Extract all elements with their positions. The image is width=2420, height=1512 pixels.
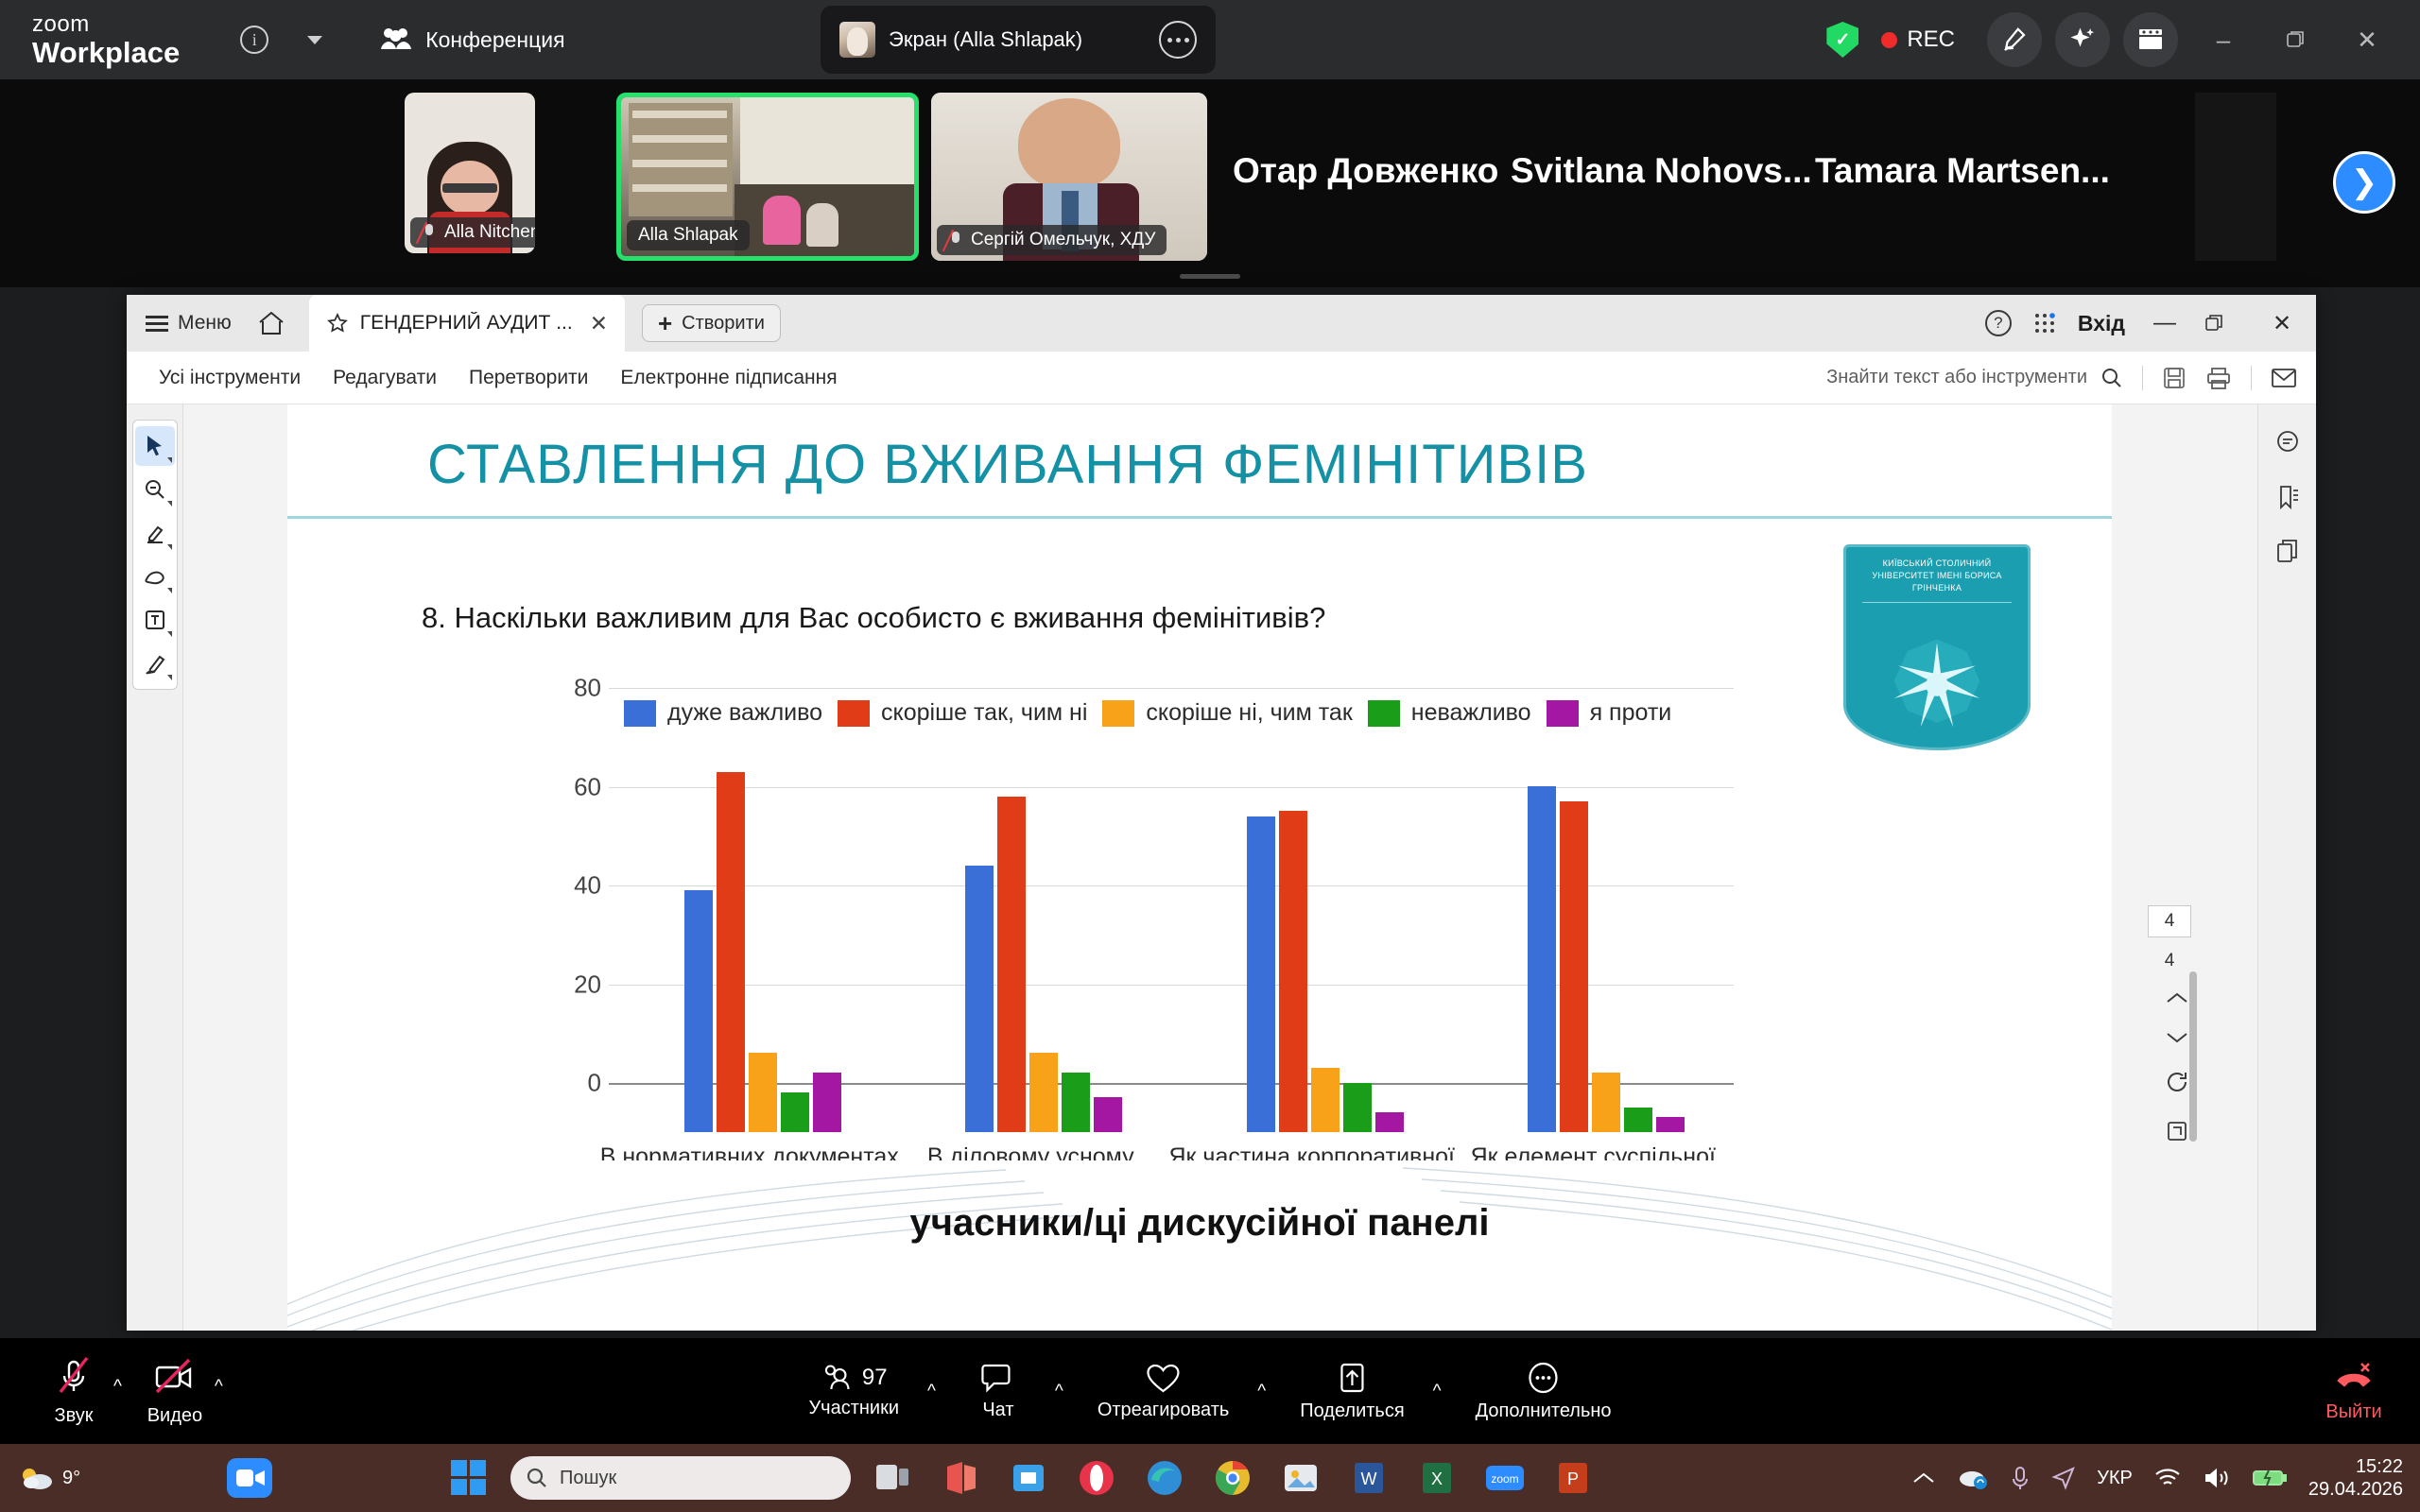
chrome-icon[interactable] [1206, 1452, 1259, 1504]
zoom-logo: zoom Workplace [32, 13, 180, 67]
bar-group [1247, 688, 1404, 1132]
more-label: Дополнительно [1476, 1400, 1612, 1422]
draw-icon[interactable] [135, 644, 175, 683]
screen-share-tab-label: Экран (Alla Shlapak) [889, 27, 1082, 52]
rotate-icon[interactable] [2165, 1070, 2189, 1094]
bar [1375, 1112, 1404, 1132]
page-controls [2165, 990, 2189, 1143]
text-comment-icon[interactable] [135, 600, 175, 640]
bar [684, 890, 713, 1132]
photos-icon[interactable] [1274, 1452, 1327, 1504]
heart-icon [1145, 1362, 1183, 1394]
menu-label[interactable]: Меню [178, 312, 232, 335]
taskbar-apps: Пошук [223, 1452, 1599, 1504]
y-tick-label: 60 [574, 772, 601, 801]
chat-bubble-icon [980, 1362, 1016, 1394]
layout-icon[interactable] [2123, 12, 2178, 67]
zoom-meeting-window: zoom Workplace i Конференция Экран (Alla… [0, 0, 2420, 1512]
zoom-taskbar-icon[interactable]: zoom [1478, 1452, 1531, 1504]
find-placeholder: Знайти текст або інструменти [1826, 367, 2087, 388]
caret-up-icon[interactable]: ^ [1257, 1382, 1266, 1402]
wifi-icon[interactable] [2153, 1467, 2182, 1489]
chat-label: Чат [982, 1400, 1013, 1421]
caret-up-icon[interactable]: ^ [1055, 1382, 1063, 1402]
ellipsis-icon[interactable] [1159, 21, 1197, 59]
question-circle-icon[interactable]: ? [1985, 310, 2012, 336]
svg-text:X: X [1431, 1469, 1443, 1488]
record-dot-icon [1881, 32, 1897, 48]
bar-group [965, 688, 1122, 1132]
find-input[interactable]: Знайти текст або інструменти [1826, 367, 2123, 389]
close-icon[interactable]: ✕ [2263, 310, 2301, 337]
avatar [839, 22, 875, 58]
mail-icon[interactable] [2271, 367, 2297, 389]
bar [1094, 1097, 1122, 1132]
title-divider [287, 516, 2112, 519]
y-tick-label: 40 [574, 871, 601, 901]
restore-icon[interactable] [2269, 12, 2322, 67]
zoom-logo-line2: Workplace [32, 38, 180, 67]
y-tick-label: 20 [574, 970, 601, 999]
apps-grid-icon[interactable] [2032, 311, 2057, 335]
svg-text:W: W [1361, 1469, 1377, 1488]
bar [1560, 801, 1588, 1132]
bar [1279, 811, 1307, 1132]
chevron-down-icon[interactable] [2165, 1030, 2189, 1045]
caret-up-icon[interactable]: ^ [215, 1377, 223, 1398]
new-tab-button[interactable]: + Створити [642, 304, 781, 342]
pdf-reader-window: Меню ГЕНДЕРНИЙ АУДИТ ... ✕ + Створити ? [127, 295, 2316, 1331]
zoom-icon[interactable] [223, 1452, 276, 1504]
pdf-menubar-actions: Знайти текст або інструменти [1826, 366, 2297, 390]
language-indicator[interactable]: УКР [2097, 1468, 2133, 1489]
y-tick-label: 0 [588, 1069, 601, 1098]
opera-icon[interactable] [1070, 1452, 1123, 1504]
people-icon [821, 1364, 855, 1392]
chevron-up-icon[interactable] [2165, 990, 2189, 1005]
tile-name-badge: Alla Nitchenko [410, 217, 535, 248]
university-logo: КИЇВСЬКИЙ СТОЛИЧНИЙ УНІВЕРСИТЕТ ІМЕНІ БО… [1843, 544, 2031, 750]
page-title: СТАВЛЕННЯ ДО ВЖИВАННЯ ФЕМІНІТИВІВ [427, 433, 1588, 496]
camera-muted-icon [151, 1356, 199, 1400]
caret-up-icon[interactable]: ^ [927, 1382, 936, 1402]
clock[interactable]: 15:22 29.04.2026 [2308, 1455, 2403, 1501]
search-icon [2100, 367, 2123, 389]
pdf-body: СТАВЛЕННЯ ДО ВЖИВАННЯ ФЕМІНІТИВІВ КИЇВСЬ… [127, 404, 2316, 1331]
menu-item-all-tools[interactable]: Усі інструменти [159, 367, 301, 389]
reactions-button[interactable]: Отреагировать [1098, 1362, 1229, 1421]
zoom-select-icon[interactable] [135, 470, 175, 509]
close-icon[interactable]: ✕ [590, 311, 608, 336]
share-up-arrow-icon [1335, 1361, 1369, 1395]
microphone-icon[interactable] [2010, 1465, 2031, 1491]
y-tick-label: 80 [574, 674, 601, 703]
minimize-icon[interactable]: – [2197, 12, 2250, 67]
pen-icon[interactable] [1987, 12, 2042, 67]
bar [965, 866, 994, 1132]
bar [1624, 1108, 1652, 1132]
titlebar-actions: ✓ REC [1826, 0, 2394, 79]
caret-up-icon[interactable]: ^ [1433, 1382, 1442, 1402]
comment-icon[interactable] [2267, 421, 2308, 463]
zoom-titlebar: zoom Workplace i Конференция Экран (Alla… [0, 0, 2420, 79]
page-number[interactable]: 4 [2148, 905, 2191, 937]
close-icon[interactable]: ✕ [2341, 12, 2394, 67]
more-button[interactable]: Дополнительно [1476, 1361, 1612, 1422]
chart-plot-area [609, 688, 1734, 1132]
powerpoint-icon[interactable]: P [1547, 1452, 1599, 1504]
copy-pages-icon[interactable] [2267, 531, 2308, 573]
footer-text: учасники/ці дискусійної панелі [287, 1202, 2112, 1245]
bar [781, 1092, 809, 1132]
restore-icon[interactable] [2204, 314, 2242, 333]
bar [1528, 786, 1556, 1132]
slide-footer: учасники/ці дискусійної панелі [287, 1160, 2112, 1331]
windows-taskbar: 9° Пошук [0, 1444, 2420, 1512]
select-cursor-icon[interactable] [135, 426, 175, 466]
tile-name: Alla Nitchenko [444, 222, 535, 243]
tile-name: Сергій Омельчук, ХДУ [971, 230, 1155, 250]
menu-item-edit[interactable]: Редагувати [333, 367, 437, 389]
menu-item-esign[interactable]: Електронне підписання [620, 367, 837, 389]
snapshot-icon[interactable] [2165, 1119, 2189, 1143]
excel-icon[interactable]: X [1410, 1452, 1463, 1504]
eraser-icon[interactable] [135, 557, 175, 596]
chevron-down-icon[interactable] [293, 18, 337, 61]
decorative-swirl [287, 1160, 2112, 1331]
recording-indicator[interactable]: REC [1881, 26, 1955, 53]
reactions-label: Отреагировать [1098, 1400, 1229, 1421]
participant-name-only[interactable]: Svitlana Nohovs... [1511, 151, 1812, 191]
onedrive-icon[interactable] [1957, 1466, 1989, 1490]
bar [1247, 816, 1275, 1132]
print-icon[interactable] [2205, 366, 2232, 390]
sparkle-icon[interactable] [2055, 12, 2110, 67]
bar [1311, 1068, 1340, 1132]
weather-widget[interactable]: 9° [19, 1465, 80, 1491]
document-tab[interactable]: ГЕНДЕРНИЙ АУДИТ ... ✕ [309, 295, 625, 352]
bar [1062, 1073, 1090, 1132]
partly-cloudy-icon [19, 1465, 55, 1491]
clock-date: 29.04.2026 [2308, 1478, 2403, 1501]
bar-group [684, 688, 841, 1132]
home-icon[interactable] [256, 309, 286, 337]
participant-name-only[interactable]: Tamara Martsen... [1815, 151, 2110, 191]
plus-icon: + [658, 309, 672, 338]
bar-chart: дуже важливоскоріше так, чим ніскоріше н… [571, 688, 1734, 1132]
logo-star-icon [1886, 635, 1988, 737]
video-tile[interactable]: Сергій Омельчук, ХДУ [931, 93, 1207, 261]
people-icon [380, 27, 412, 52]
bar [717, 772, 745, 1132]
menu-item-convert[interactable]: Перетворити [469, 367, 588, 389]
bar [997, 797, 1026, 1132]
zoom-logo-line1: zoom [32, 13, 180, 36]
audio-label: Звук [54, 1405, 93, 1427]
mic-muted-icon [422, 223, 437, 242]
video-tile[interactable]: Alla Nitchenko [405, 93, 535, 253]
m365-icon[interactable] [934, 1452, 987, 1504]
bookmark-icon[interactable] [2267, 476, 2308, 518]
pdf-left-toolbar [127, 404, 183, 1331]
chevron-up-icon[interactable] [1911, 1470, 1936, 1486]
leave-label: Выйти [2325, 1401, 2381, 1423]
highlighter-icon[interactable] [135, 513, 175, 553]
signin-button[interactable]: Вхід [2078, 311, 2125, 336]
video-tile-active[interactable]: Alla Shlapak [616, 93, 919, 261]
star-icon[interactable] [326, 312, 349, 335]
video-button[interactable]: Видео [147, 1356, 203, 1427]
page-indicator: 4 4 [2148, 905, 2191, 977]
bar [1029, 1053, 1058, 1132]
divider [2142, 366, 2143, 390]
conference-tab[interactable]: Конференция [380, 27, 564, 53]
bar [1343, 1083, 1372, 1132]
pdf-page-area[interactable]: СТАВЛЕННЯ ДО ВЖИВАННЯ ФЕМІНІТИВІВ КИЇВСЬ… [183, 404, 2257, 1331]
store-icon[interactable] [1002, 1452, 1055, 1504]
task-view-icon[interactable] [866, 1452, 919, 1504]
svg-text:zoom: zoom [1491, 1472, 1518, 1486]
vertical-scrollbar[interactable] [2189, 971, 2197, 1142]
zoom-meeting-toolbar: Звук ^ Видео ^ 97 [0, 1338, 2420, 1444]
page-total: 4 [2148, 945, 2191, 977]
system-tray: УКР 15:22 29.04.2026 [1911, 1455, 2403, 1501]
shield-check-icon[interactable]: ✓ [1826, 22, 1858, 58]
microphone-muted-icon [53, 1356, 95, 1400]
search-input[interactable]: Пошук [510, 1456, 851, 1500]
chat-button[interactable]: Чат [970, 1362, 1027, 1421]
share-label: Поделиться [1300, 1400, 1404, 1422]
divider [2251, 366, 2252, 390]
pdf-menubar: Усі інструменти Редагувати Перетворити Е… [127, 352, 2316, 404]
mic-muted-icon [948, 231, 963, 249]
volume-icon[interactable] [2203, 1467, 2231, 1489]
pdf-right-rail [2257, 404, 2316, 1331]
participants-count: 97 [862, 1365, 888, 1391]
video-label: Видео [147, 1405, 202, 1427]
svg-text:P: P [1567, 1469, 1579, 1488]
slide-canvas: СТАВЛЕННЯ ДО ВЖИВАННЯ ФЕМІНІТИВІВ КИЇВСЬ… [287, 404, 2112, 1331]
leave-button[interactable]: Выйти [2325, 1360, 2382, 1423]
bar [1592, 1073, 1620, 1132]
word-icon[interactable]: W [1342, 1452, 1395, 1504]
new-tab-label: Створити [682, 313, 765, 335]
windows-start-icon[interactable] [442, 1452, 495, 1504]
save-icon[interactable] [2162, 366, 2187, 390]
question-text: 8. Наскільки важливим для Вас особисто є… [422, 601, 1325, 635]
pdf-tabbar: Меню ГЕНДЕРНИЙ АУДИТ ... ✕ + Створити ? [127, 295, 2316, 352]
participants-label: Участники [808, 1398, 899, 1419]
ellipsis-circle-icon [1525, 1361, 1563, 1395]
tile-name-badge: Alla Shlapak [627, 220, 750, 250]
audio-button[interactable]: Звук [45, 1356, 102, 1427]
search-icon [526, 1467, 548, 1489]
participant-name-only[interactable]: Отар Довженко [1233, 151, 1498, 191]
weather-temp: 9° [62, 1468, 80, 1489]
document-tab-title: ГЕНДЕРНИЙ АУДИТ ... [360, 312, 573, 335]
tile-name: Alla Shlapak [638, 225, 738, 246]
caret-up-icon[interactable]: ^ [113, 1377, 122, 1398]
location-icon[interactable] [2051, 1466, 2076, 1490]
participants-filmstrip: Alla Nitchenko Alla Shlapak [0, 79, 2420, 287]
search-placeholder: Пошук [560, 1468, 616, 1489]
hamburger-icon[interactable] [146, 316, 168, 332]
info-icon[interactable]: i [233, 18, 276, 61]
participants-button[interactable]: 97 Участники [808, 1364, 899, 1419]
bar [813, 1073, 841, 1132]
screen-share-tab[interactable]: Экран (Alla Shlapak) [821, 6, 1216, 74]
bar [749, 1053, 777, 1132]
battery-charging-icon[interactable] [2252, 1468, 2288, 1488]
pdf-window-actions: ? Вхід — ✕ [1985, 310, 2301, 337]
university-logo-text: КИЇВСЬКИЙ СТОЛИЧНИЙ УНІВЕРСИТЕТ ІМЕНІ БО… [1843, 544, 2031, 594]
share-button[interactable]: Поделиться [1300, 1361, 1404, 1422]
clock-time: 15:22 [2308, 1455, 2403, 1478]
tile-name-badge: Сергій Омельчук, ХДУ [937, 225, 1167, 255]
leave-meeting-icon [2333, 1360, 2375, 1396]
bar [1656, 1117, 1685, 1132]
conference-tab-label: Конференция [425, 27, 564, 53]
rec-label: REC [1907, 26, 1955, 53]
chevron-right-icon[interactable]: ❯ [2333, 151, 2395, 214]
minimize-icon[interactable]: — [2146, 310, 2184, 336]
edge-icon[interactable] [1138, 1452, 1191, 1504]
bar-group [1528, 688, 1685, 1132]
